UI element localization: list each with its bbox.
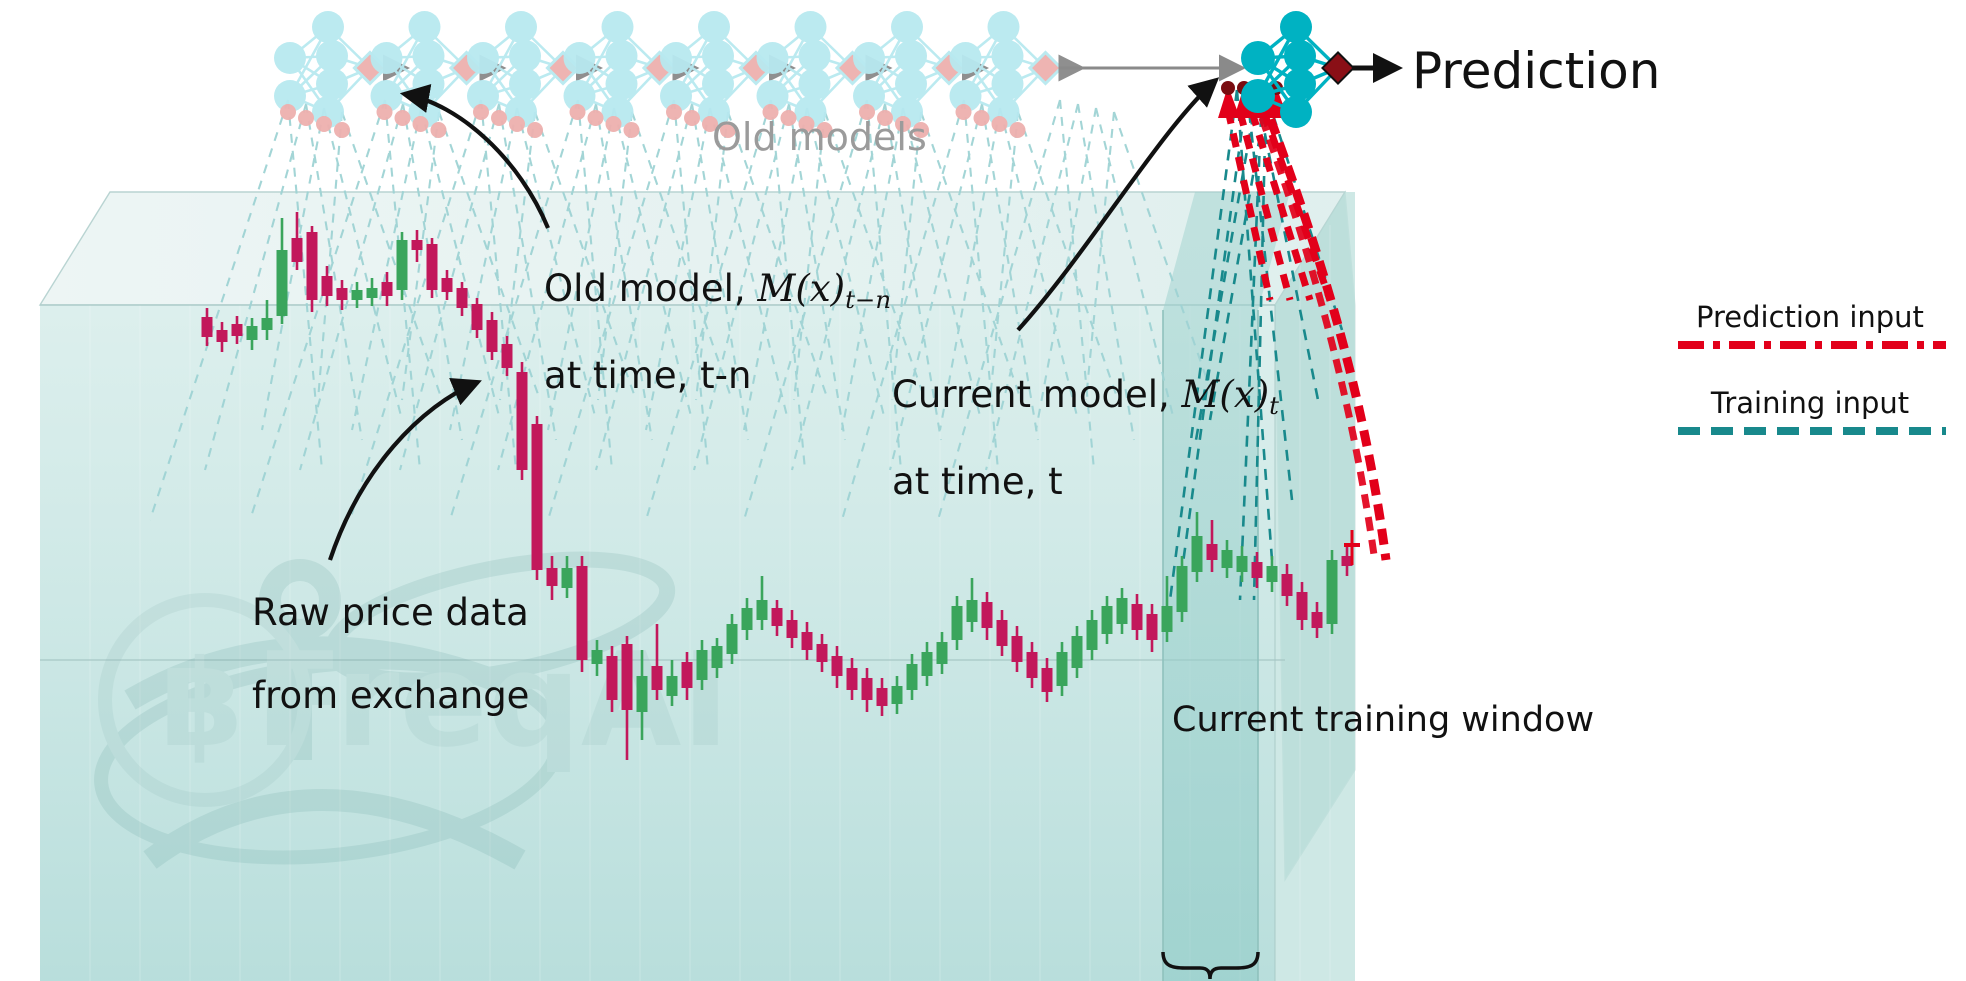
network-input-dot (298, 110, 314, 126)
network-input-dot (431, 122, 447, 138)
legend-label-prediction-input: Prediction input (1660, 300, 1960, 334)
network-input-dot (377, 104, 393, 120)
network-input-dot (974, 110, 990, 126)
legend-item-training-input[interactable]: Training input (1660, 386, 1960, 446)
old-model-text-pre: Old model, (544, 267, 757, 310)
old-model-math-x: (x) (795, 267, 845, 310)
network-input-dot (509, 116, 525, 132)
current-model-annotation: Current model, M(x)t at time, t (845, 333, 1279, 544)
current-model-network[interactable] (1241, 11, 1398, 128)
network-input-dot (570, 104, 586, 120)
prediction-label: Prediction (1412, 43, 1660, 99)
network-input-dot (413, 116, 429, 132)
network-input-dot (624, 122, 640, 138)
network-input-dot (280, 104, 296, 120)
network-input-dot (473, 104, 489, 120)
figure-root: FreqAI ฿ (0, 0, 1966, 981)
legend-item-prediction-input[interactable]: Prediction input (1660, 300, 1960, 360)
network-input-dot (992, 116, 1008, 132)
prediction-input-line-sample (1660, 334, 1960, 356)
old-model-math-m: M (757, 267, 795, 310)
network-input-dot (527, 122, 543, 138)
network-input-dot (491, 110, 507, 126)
current-model-text-pre: Current model, (892, 373, 1181, 416)
network-input-dot (588, 110, 604, 126)
current-model-text-line2: at time, t (892, 460, 1063, 503)
network-input-dot (395, 110, 411, 126)
raw-price-line1: Raw price data (252, 591, 529, 634)
current-model-math-sub: t (1269, 391, 1279, 420)
training-window-brace (1163, 952, 1258, 979)
current-training-window-label: Current training window (1172, 701, 1594, 740)
old-model-network[interactable] (950, 11, 1080, 138)
raw-price-line2: from exchange (252, 674, 529, 717)
old-model-math-sub: t−n (845, 285, 891, 314)
old-models-label: Old models (712, 116, 927, 159)
legend-label-training-input: Training input (1660, 386, 1960, 420)
legend: Prediction input Training input (1660, 300, 1960, 446)
old-model-annotation: Old model, M(x)t−n at time, t-n (497, 227, 891, 438)
training-input-line-sample (1660, 420, 1960, 442)
network-input-dot (666, 104, 682, 120)
network-input-dot (956, 104, 972, 120)
current-model-math-x: (x) (1219, 373, 1269, 416)
current-model-math-m: M (1182, 373, 1220, 416)
network-input-dot (606, 116, 622, 132)
network-input-dot (334, 122, 350, 138)
old-model-text-line2: at time, t-n (544, 354, 751, 397)
network-input-dot (316, 116, 332, 132)
network-input-dot (1010, 122, 1026, 138)
raw-price-annotation: Raw price data from exchange (205, 551, 529, 758)
network-input-dot (684, 110, 700, 126)
